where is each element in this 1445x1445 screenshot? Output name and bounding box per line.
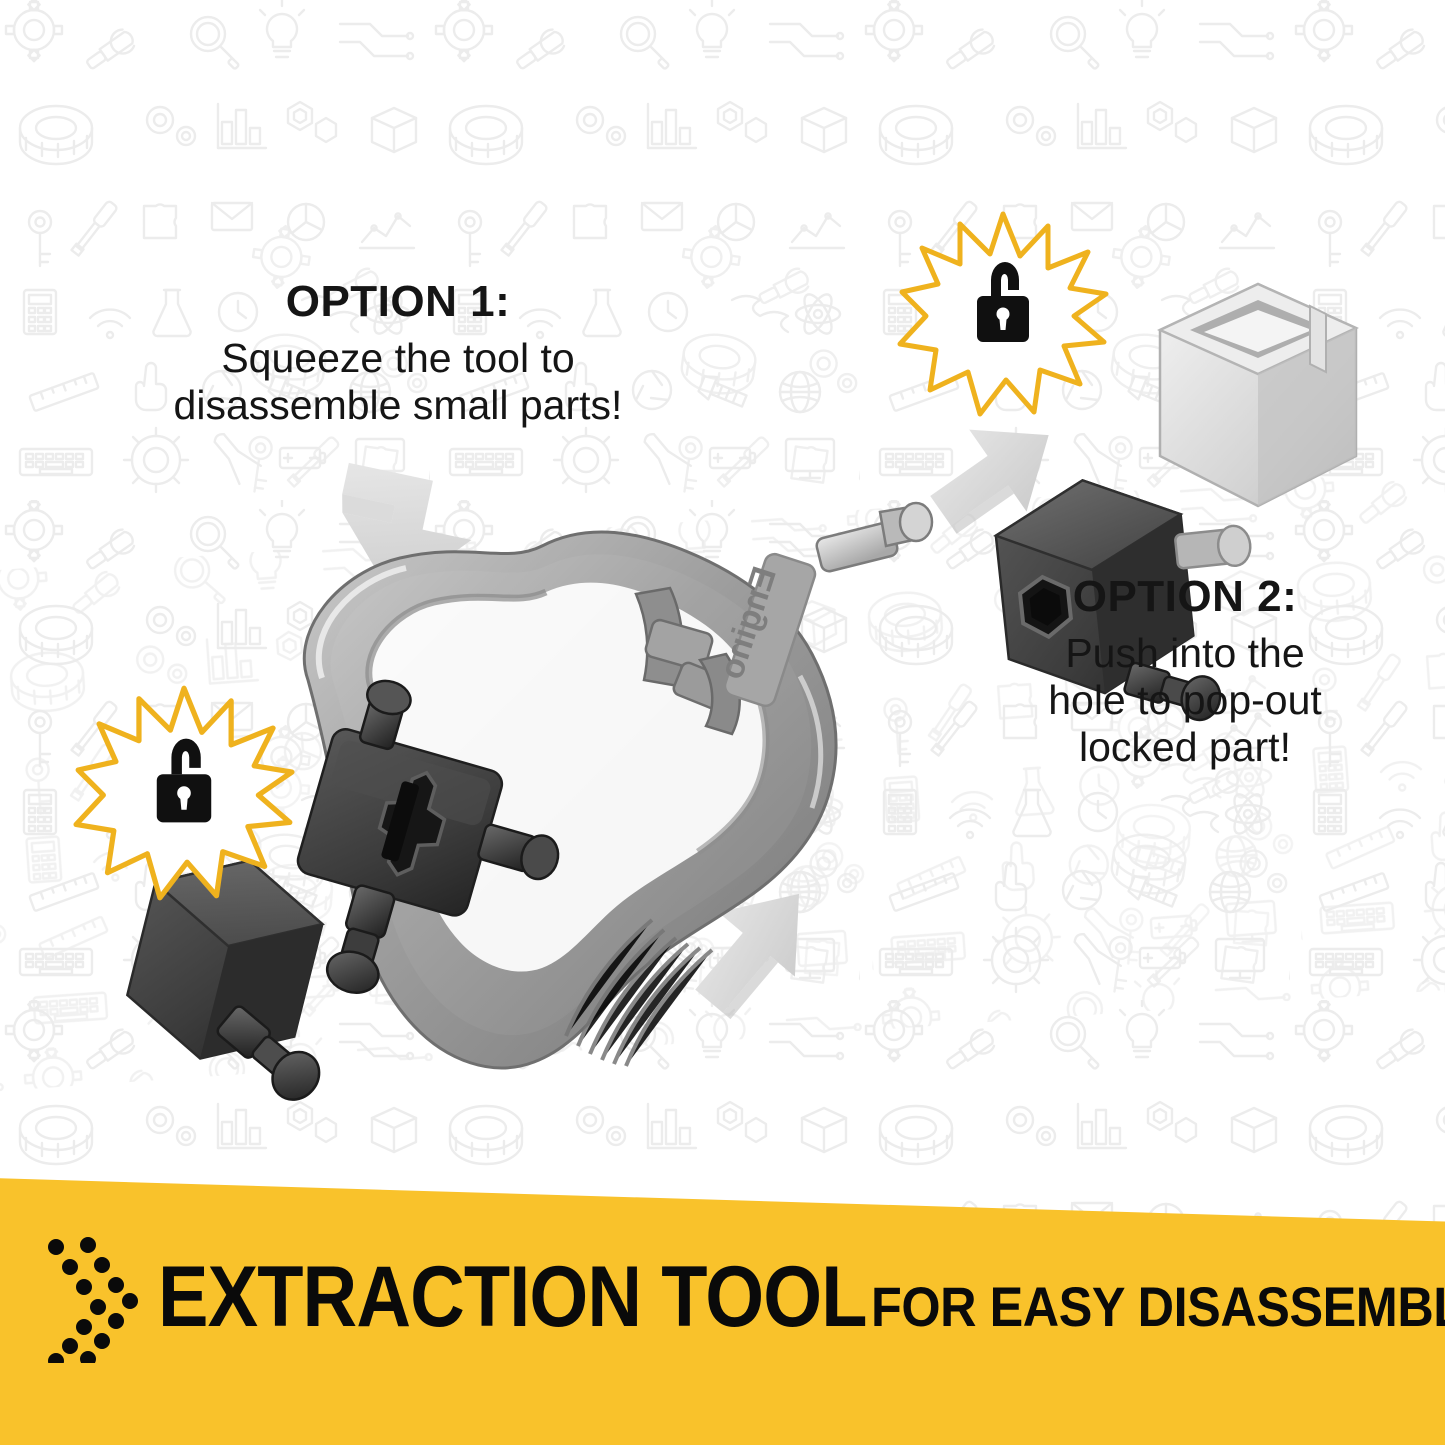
- option-2-title: OPTION 2:: [985, 572, 1385, 622]
- axle-stub-top: [1174, 524, 1252, 572]
- banner-title: EXTRACTION TOOL: [158, 1248, 867, 1347]
- option-2-body: Push into the hole to pop-out locked par…: [985, 630, 1385, 770]
- bottom-banner: EXTRACTION TOOL FOR EASY DISASSEMBLY: [0, 1150, 1445, 1445]
- burst-top-right: [898, 208, 1108, 418]
- option-1-callout: OPTION 1: Squeeze the tool to disassembl…: [88, 277, 708, 429]
- burst-bottom-left: [74, 682, 294, 902]
- banner-subtitle: FOR EASY DISASSEMBLY: [871, 1274, 1445, 1339]
- light-socket-cube: [1160, 284, 1356, 506]
- option-2-callout: OPTION 2: Push into the hole to pop-out …: [985, 572, 1385, 770]
- dot-chevron-logo-icon: [44, 1233, 144, 1363]
- infographic-canvas: Engino: [0, 0, 1445, 1445]
- option-1-title: OPTION 1:: [88, 277, 708, 327]
- clamp-shaft: [815, 503, 932, 573]
- option-1-body: Squeeze the tool to disassemble small pa…: [88, 335, 708, 428]
